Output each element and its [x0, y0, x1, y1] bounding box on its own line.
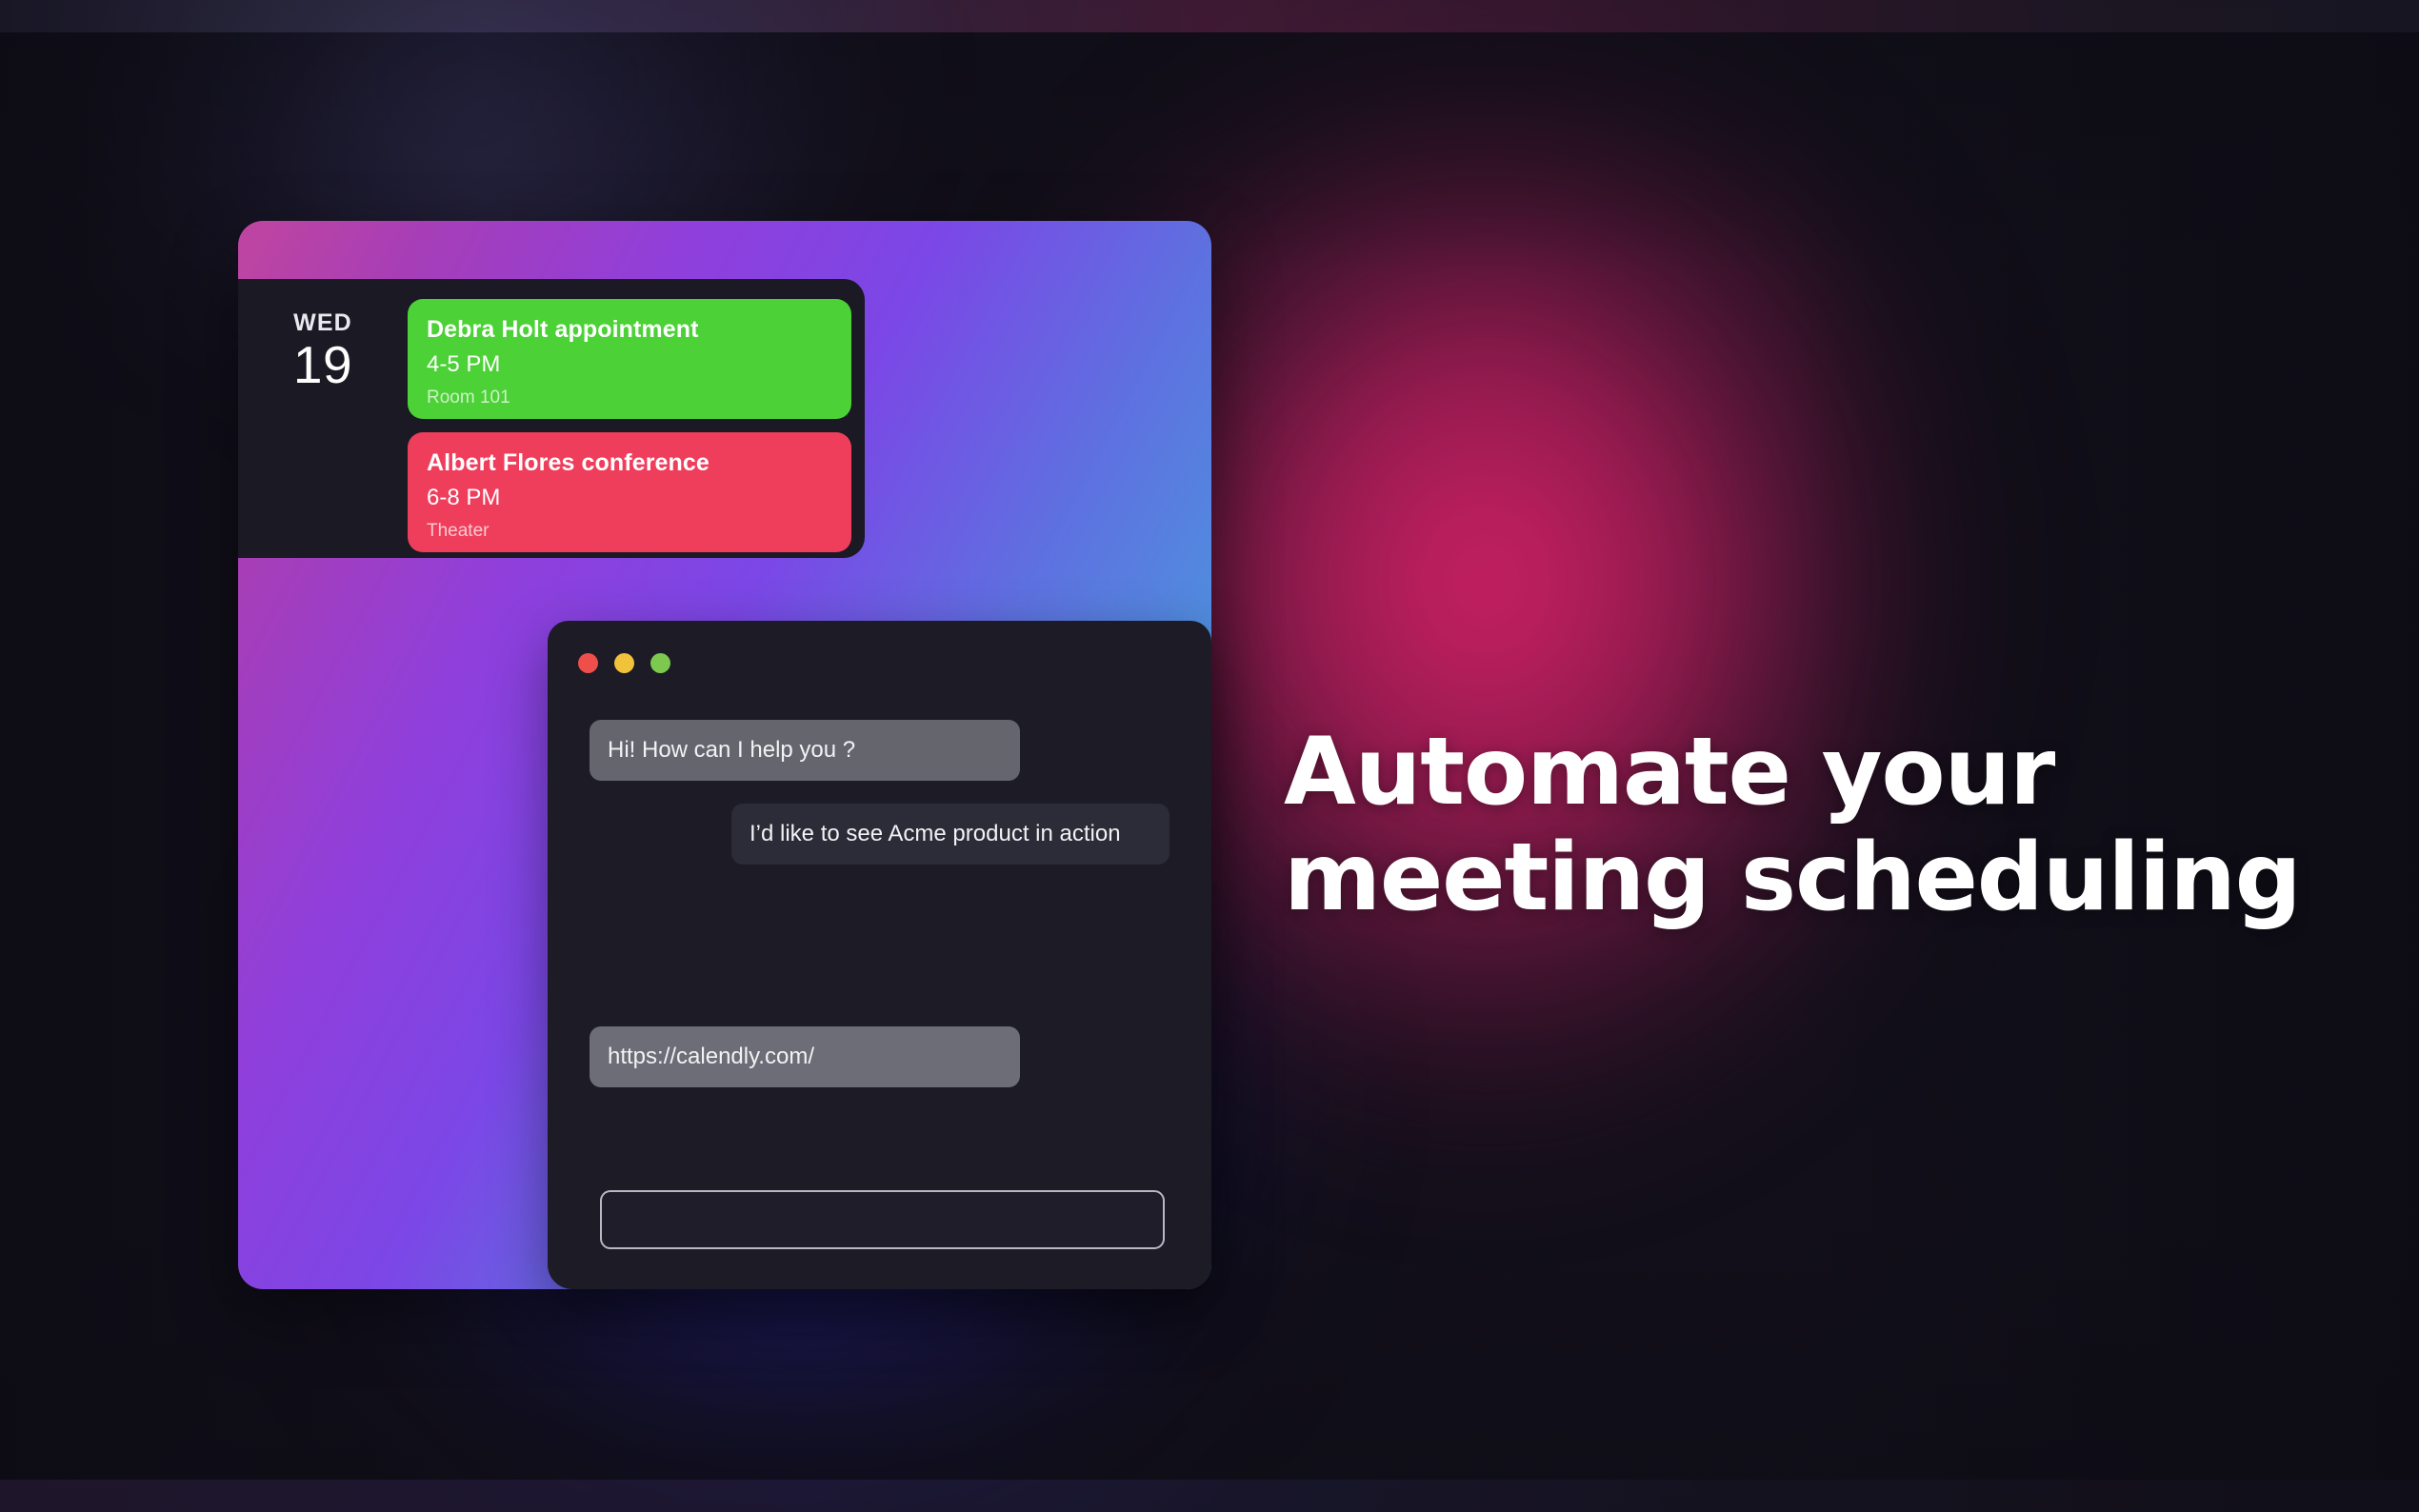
calendar-panel: WED 19 Debra Holt appointment 4-5 PM Roo…	[238, 279, 865, 558]
close-window-icon[interactable]	[578, 653, 598, 673]
calendar-events-list: Debra Holt appointment 4-5 PM Room 101 A…	[408, 292, 865, 552]
event-location: Theater	[427, 522, 832, 542]
chat-input-field[interactable]	[600, 1190, 1165, 1249]
headline-line-1: Automate your	[1284, 720, 2350, 826]
calendar-weekday-label: WED	[238, 311, 408, 335]
chat-message-row: I’d like to see Acme product in action	[590, 804, 1170, 865]
chat-bubble-agent: Hi! How can I help you ?	[590, 720, 1020, 781]
event-title: Albert Flores conference	[427, 450, 832, 477]
calendar-day-number: 19	[238, 338, 408, 392]
chat-window: Hi! How can I help you ? I’d like to see…	[548, 621, 1211, 1289]
event-time: 4-5 PM	[427, 352, 832, 377]
chat-link-message-row: https://calendly.com/	[548, 1026, 1211, 1110]
event-title: Debra Holt appointment	[427, 317, 832, 344]
minimize-window-icon[interactable]	[614, 653, 634, 673]
chat-bubble-scheduling-link[interactable]: https://calendly.com/	[590, 1026, 1020, 1087]
background-bottom-strip	[0, 1480, 2419, 1512]
chat-message-row: Hi! How can I help you ?	[590, 720, 1170, 781]
chat-window-titlebar	[578, 653, 670, 673]
chat-input-value	[602, 1192, 1163, 1223]
calendar-event-card[interactable]: Debra Holt appointment 4-5 PM Room 101	[408, 299, 851, 419]
page-background: WED 19 Debra Holt appointment 4-5 PM Roo…	[0, 0, 2419, 1512]
headline-line-2: meeting scheduling	[1284, 826, 2350, 931]
event-time: 6-8 PM	[427, 486, 832, 510]
event-location: Room 101	[427, 388, 832, 408]
calendar-date-block: WED 19	[238, 292, 408, 392]
calendar-event-card[interactable]: Albert Flores conference 6-8 PM Theater	[408, 432, 851, 552]
background-top-strip	[0, 0, 2419, 32]
chat-message-row: https://calendly.com/	[590, 1026, 1170, 1087]
page-headline: Automate your meeting scheduling	[1284, 720, 2350, 930]
chat-bubble-user: I’d like to see Acme product in action	[731, 804, 1170, 865]
calendar-content: WED 19 Debra Holt appointment 4-5 PM Roo…	[238, 279, 865, 558]
chat-message-list: Hi! How can I help you ? I’d like to see…	[548, 720, 1211, 887]
maximize-window-icon[interactable]	[650, 653, 670, 673]
